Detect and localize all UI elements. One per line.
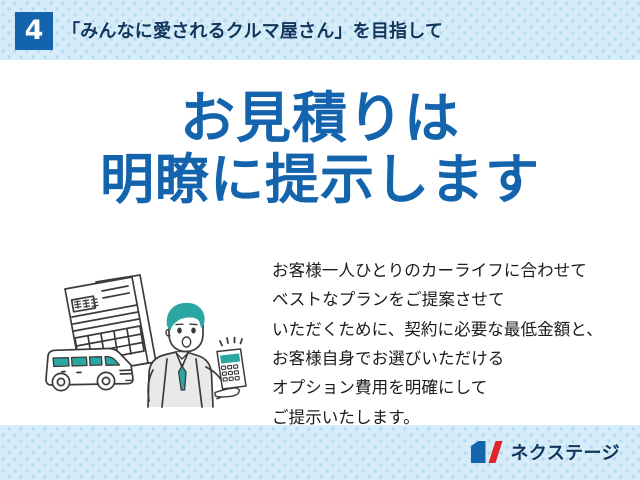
body-line-1: お客様一人ひとりのカーライフに合わせて <box>272 256 622 285</box>
header-band: 4 「みんなに愛されるクルマ屋さん」を目指して <box>0 0 640 60</box>
van <box>46 348 133 390</box>
content-card: お見積りは 明瞭に提示します <box>0 60 640 425</box>
nextage-n-logo-icon <box>470 440 504 464</box>
body-copy: お客様一人ひとりのカーライフに合わせて ベストなプランをご提案させて いただくた… <box>272 256 622 432</box>
illustration-svg <box>36 255 264 415</box>
headline: お見積りは 明瞭に提示します <box>0 88 640 210</box>
body-line-2: ベストなプランをご提案させて <box>272 285 622 314</box>
brand-name: ネクステージ <box>511 439 621 465</box>
brand-logo: ネクステージ <box>470 439 621 465</box>
body-line-5: オプション費用を明確にして <box>272 373 622 402</box>
calculator <box>217 349 246 389</box>
step-number-badge: 4 <box>15 12 53 50</box>
header-title: 「みんなに愛されるクルマ屋さん」を目指して <box>62 17 443 43</box>
body-line-4: お客様自身でお選びいただける <box>272 344 622 373</box>
promo-slide: 4 「みんなに愛されるクルマ屋さん」を目指して お見積りは 明瞭に提示します <box>0 0 640 480</box>
body-line-3: いただくために、契約に必要な最低金額と、 <box>272 315 622 344</box>
headline-line-2: 明瞭に提示します <box>0 150 640 210</box>
illustration-salesman-quotation-van <box>36 255 264 415</box>
headline-line-1: お見積りは <box>0 88 640 150</box>
footer-band: ネクステージ <box>0 425 640 480</box>
sparkle-icon <box>220 338 242 346</box>
